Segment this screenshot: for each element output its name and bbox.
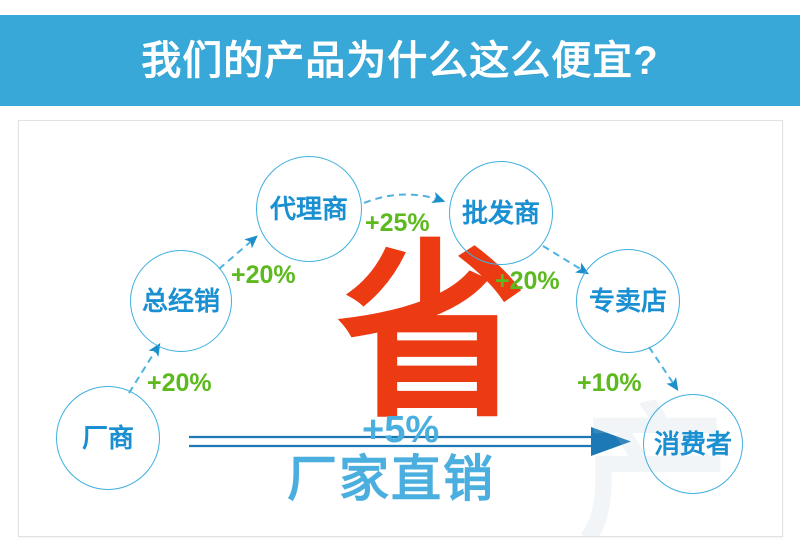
percent-manufacturer-to-distributor: +20% xyxy=(147,371,212,396)
header-banner: 我们的产品为什么这么便宜? xyxy=(0,15,800,106)
node-retailer-label: 专卖店 xyxy=(589,288,667,314)
node-manufacturer-label: 厂商 xyxy=(82,425,134,451)
node-wholesaler-label: 批发商 xyxy=(462,200,540,226)
node-manufacturer[interactable]: 厂商 xyxy=(56,386,160,490)
node-consumer-label: 消费者 xyxy=(654,431,732,457)
direct-sale-percent: +5% xyxy=(362,411,439,449)
percent-agent-to-wholesaler: +25% xyxy=(365,211,430,236)
edge-retailer-to-consumer xyxy=(649,347,677,389)
node-agent[interactable]: 代理商 xyxy=(256,156,362,262)
node-distributor-label: 总经销 xyxy=(142,288,220,314)
node-retailer[interactable]: 专卖店 xyxy=(576,249,680,353)
direct-sale-label: 厂家直销 xyxy=(287,454,495,504)
node-distributor[interactable]: 总经销 xyxy=(130,250,232,352)
percent-wholesaler-to-retailer: +20% xyxy=(495,269,560,294)
diagram-panel: 产 省 厂商 总经销 代理商 批发商 专卖店 消费者 +20% +20% +25… xyxy=(18,120,783,537)
node-agent-label: 代理商 xyxy=(270,196,348,222)
percent-retailer-to-consumer: +10% xyxy=(577,371,642,396)
page-title: 我们的产品为什么这么便宜? xyxy=(141,41,658,81)
edge-agent-to-wholesaler xyxy=(364,194,443,203)
node-wholesaler[interactable]: 批发商 xyxy=(449,161,553,265)
percent-distributor-to-agent: +20% xyxy=(231,263,296,288)
node-consumer[interactable]: 消费者 xyxy=(643,394,743,494)
